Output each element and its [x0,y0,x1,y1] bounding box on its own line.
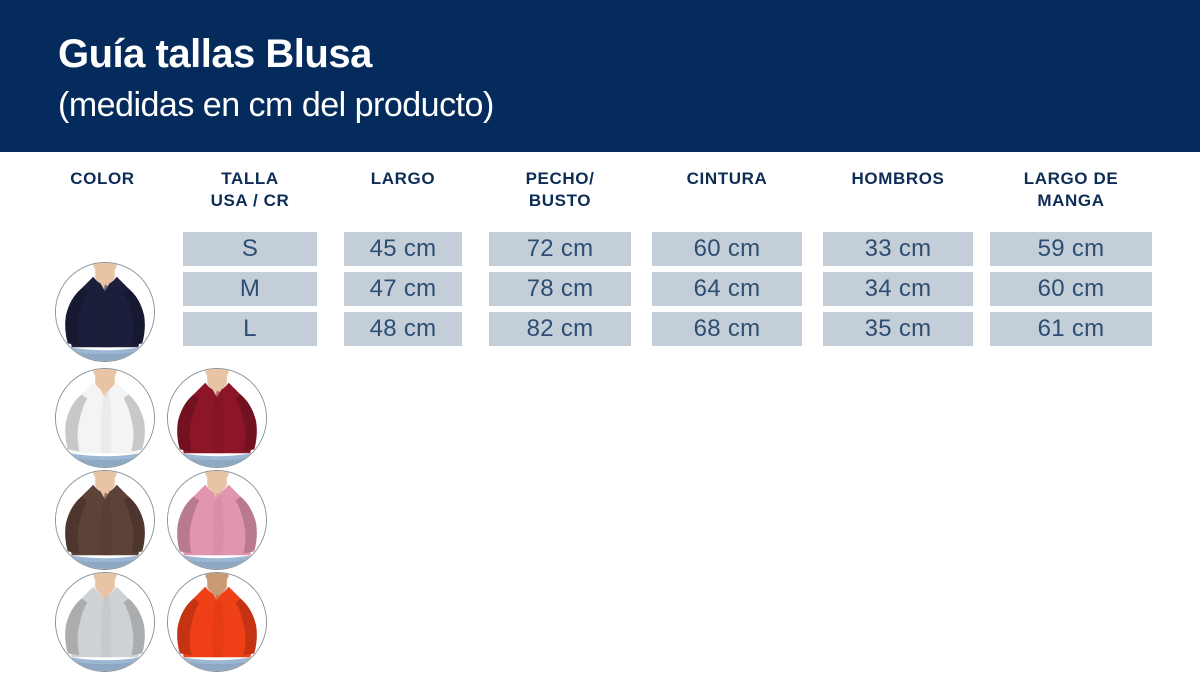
color-swatch-orange[interactable] [167,572,267,672]
column-header-line: HOMBROS [823,168,973,190]
color-swatch-brown[interactable] [55,470,155,570]
cell-largo-row2: 47 cm [344,272,462,306]
cell-pecho-row2: 78 cm [489,272,631,306]
column-header-talla: TALLAUSA / CR [183,168,317,212]
cell-hombros-row3: 35 cm [823,312,973,346]
column-header-line: LARGO [344,168,462,190]
color-swatch-gray[interactable] [55,572,155,672]
color-swatch-white[interactable] [55,368,155,468]
page-subtitle: (medidas en cm del producto) [58,86,494,125]
color-swatch-burgundy[interactable] [167,368,267,468]
cell-largo-row1: 45 cm [344,232,462,266]
cell-cintura-row1: 60 cm [652,232,802,266]
cell-talla-row3: L [183,312,317,346]
column-header-line: LARGO DE [990,168,1152,190]
header-band: Guía tallas Blusa (medidas en cm del pro… [0,0,1200,152]
column-header-line: MANGA [990,190,1152,212]
cell-talla-row2: M [183,272,317,306]
column-header-line: CINTURA [652,168,802,190]
cell-hombros-row1: 33 cm [823,232,973,266]
column-header-line: COLOR [30,168,175,190]
cell-talla-row1: S [183,232,317,266]
cell-hombros-row2: 34 cm [823,272,973,306]
column-header-color: COLOR [30,168,175,190]
column-header-line: PECHO/ [489,168,631,190]
column-header-cintura: CINTURA [652,168,802,190]
cell-manga-row3: 61 cm [990,312,1152,346]
column-header-pecho: PECHO/BUSTO [489,168,631,212]
column-header-largo: LARGO [344,168,462,190]
column-header-line: USA / CR [183,190,317,212]
cell-manga-row2: 60 cm [990,272,1152,306]
cell-cintura-row3: 68 cm [652,312,802,346]
size-guide-page: Guía tallas Blusa (medidas en cm del pro… [0,0,1200,697]
column-header-line: BUSTO [489,190,631,212]
color-swatch-navy[interactable] [55,262,155,362]
column-header-line: TALLA [183,168,317,190]
column-header-manga: LARGO DEMANGA [990,168,1152,212]
column-header-hombros: HOMBROS [823,168,973,190]
cell-largo-row3: 48 cm [344,312,462,346]
cell-pecho-row3: 82 cm [489,312,631,346]
cell-pecho-row1: 72 cm [489,232,631,266]
cell-manga-row1: 59 cm [990,232,1152,266]
page-title: Guía tallas Blusa [58,32,372,77]
color-swatch-pink[interactable] [167,470,267,570]
cell-cintura-row2: 64 cm [652,272,802,306]
